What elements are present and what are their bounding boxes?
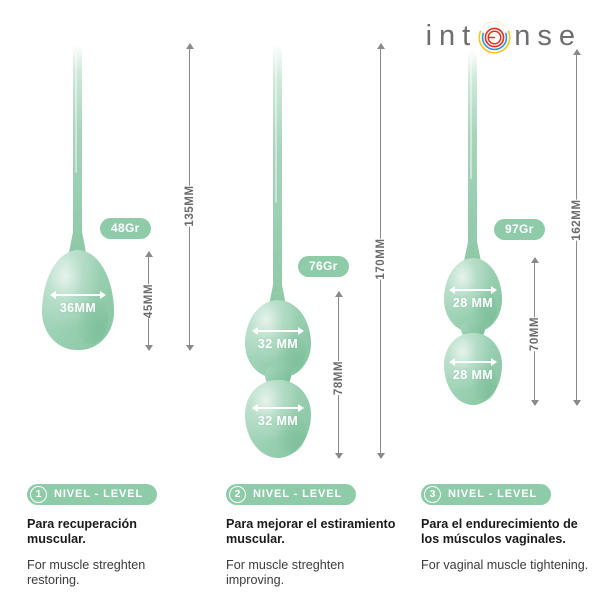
product-ball-2 <box>444 333 502 405</box>
total-length-value: 170MM <box>373 239 389 280</box>
description-spanish: Para recuperación muscular. <box>27 517 199 548</box>
level-badge-3[interactable]: 3 NIVEL - LEVEL <box>421 484 551 505</box>
total-length-value: 135MM <box>182 185 198 226</box>
body-height-value: 70MM <box>527 317 543 351</box>
weight-badge: 48Gr <box>100 218 151 239</box>
total-length-value: 162MM <box>569 200 585 241</box>
product-column-level-1: 36MM 48Gr 45MM 135MM 1 NIVEL - LEVEL Par… <box>0 0 205 600</box>
product-ball-2 <box>245 380 311 458</box>
product-footer-level-3: 3 NIVEL - LEVEL Para el endurecimiento d… <box>421 484 599 573</box>
product-stem <box>73 44 82 249</box>
body-height-value: 78MM <box>331 361 347 395</box>
product-column-level-3: 28 MM 28 MM 97Gr 70MM 162MM 3 NIVEL <box>400 0 600 600</box>
total-length-line: 170MM <box>380 44 381 458</box>
body-height-line: 78MM <box>338 292 339 458</box>
level-number: 3 <box>424 486 441 503</box>
level-label: NIVEL - LEVEL <box>253 489 342 500</box>
product-footer-level-2: 2 NIVEL - LEVEL Para mejorar el estirami… <box>226 484 398 589</box>
level-number: 1 <box>30 486 47 503</box>
description-spanish: Para el endurecimiento de los músculos v… <box>421 517 599 548</box>
product-stem <box>273 44 282 299</box>
level-badge-1[interactable]: 1 NIVEL - LEVEL <box>27 484 157 505</box>
level-label: NIVEL - LEVEL <box>54 489 143 500</box>
product-footer-level-1: 1 NIVEL - LEVEL Para recuperación muscul… <box>27 484 199 589</box>
description-english: For muscle streghten restoring. <box>27 558 199 589</box>
total-length-line: 162MM <box>576 50 577 405</box>
weight-badge: 97Gr <box>494 219 545 240</box>
body-height-value: 45MM <box>141 284 157 318</box>
description-spanish: Para mejorar el estiramiento muscular. <box>226 517 398 548</box>
body-height-line: 45MM <box>148 252 149 350</box>
level-label: NIVEL - LEVEL <box>448 489 537 500</box>
description-english: For muscle streghten improving. <box>226 558 398 589</box>
weight-badge: 76Gr <box>298 256 349 277</box>
level-number: 2 <box>229 486 246 503</box>
total-length-line: 135MM <box>189 44 190 350</box>
level-badge-2[interactable]: 2 NIVEL - LEVEL <box>226 484 356 505</box>
description-english: For vaginal muscle tightening. <box>421 558 599 574</box>
body-height-line: 70MM <box>534 258 535 405</box>
product-egg-1 <box>42 250 114 350</box>
product-stem <box>468 50 477 255</box>
product-column-level-2: 32 MM 32 MM 76Gr 78MM 170MM 2 NIVEL <box>205 0 400 600</box>
product-comparison-grid: 36MM 48Gr 45MM 135MM 1 NIVEL - LEVEL Par… <box>0 0 600 600</box>
